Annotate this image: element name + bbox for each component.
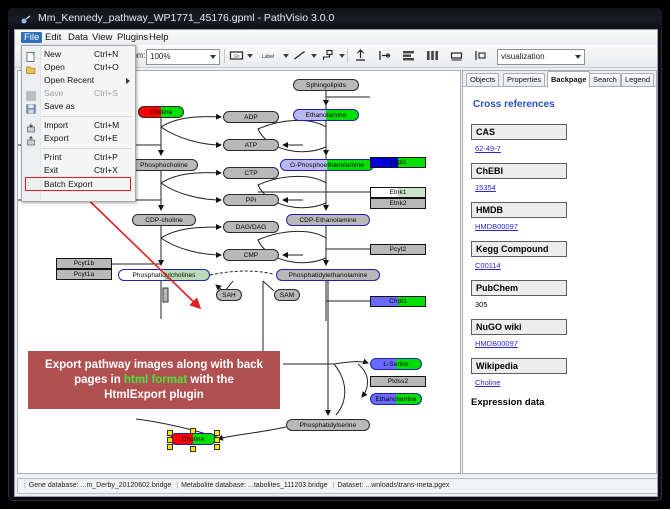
tab-search[interactable]: Search: [589, 73, 621, 87]
tab-objects[interactable]: Objects: [466, 73, 499, 87]
file-menu-item-batch-export[interactable]: Batch Export: [44, 179, 93, 189]
common-width-tool-icon[interactable]: [449, 48, 464, 63]
right-sidebar: Objects Properties Backpage Search Legen…: [462, 70, 657, 474]
xref-value-cas: 62-49-7: [475, 144, 648, 153]
menu-help[interactable]: Help: [146, 32, 172, 43]
selection-handle-e[interactable]: [214, 437, 220, 443]
xref-link-wikipedia[interactable]: Choline: [475, 378, 500, 387]
xref-source-hmdb: HMDB: [471, 202, 567, 218]
node-phosphocholine[interactable]: Phosphocholine: [130, 159, 198, 171]
selection-handle-se[interactable]: [214, 444, 220, 450]
file-menu-item-print[interactable]: Print: [44, 152, 61, 162]
chevron-down-icon: [210, 55, 216, 59]
line-tool-icon[interactable]: [292, 48, 307, 63]
gene-product-tool-icon[interactable]: Gn: [229, 48, 244, 63]
file-menu-shortcut-print: Ctrl+P: [94, 152, 118, 162]
export-icon: [26, 133, 36, 151]
node-ethanolamine[interactable]: Ethanolamine: [293, 109, 359, 121]
label-tool-icon[interactable]: Label: [256, 48, 280, 63]
sidebar-tabstrip: Objects Properties Backpage Search Legen…: [463, 71, 656, 87]
node-ethanolamine-2[interactable]: Ethanolamine: [370, 393, 422, 405]
gene-box-pcyt1b[interactable]: Pcyt1b: [56, 258, 112, 269]
distribute-tool-icon[interactable]: [425, 48, 440, 63]
submenu-chevron-right-icon: [126, 78, 130, 84]
visualization-combobox[interactable]: visualization: [497, 49, 585, 65]
align-top-tool-icon[interactable]: [353, 48, 368, 63]
stack-tool-icon[interactable]: [401, 48, 416, 63]
node-sam[interactable]: SAM: [274, 289, 300, 301]
gene-box-sgpl1[interactable]: Sgpl1: [370, 157, 426, 168]
status-dataset-value: ...wnloads\trans-meta.pgex: [365, 482, 449, 489]
node-cdp-ethanolamine[interactable]: CDP-Ethanolamine: [286, 214, 370, 226]
label-tool-chevron-down-icon[interactable]: [283, 54, 289, 58]
status-gene-db-label: Gene database:: [29, 482, 79, 489]
pathvisio-icon: [20, 13, 32, 25]
node-phosphatidylserine[interactable]: Phosphatidylserine: [286, 419, 370, 431]
node-choline[interactable]: Choline: [138, 106, 184, 118]
menu-file[interactable]: File: [21, 32, 42, 43]
file-menu-item-save-as[interactable]: Save as: [44, 101, 75, 111]
gene-tool-chevron-down-icon[interactable]: [247, 54, 253, 58]
node-phosphatidylethanolamine[interactable]: Phosphatidylethanolamine: [276, 269, 380, 281]
annotation-callout: Export pathway images along with back pa…: [28, 351, 280, 409]
gene-box-chpt1[interactable]: Chpt1: [370, 296, 426, 307]
folder-open-icon: [26, 62, 36, 80]
file-menu-popup[interactable]: New Ctrl+N Open Ctrl+O Open Recent Save …: [21, 45, 136, 202]
node-dag[interactable]: DAG/DAG: [223, 221, 279, 233]
zoom-combobox[interactable]: 100%: [146, 49, 220, 65]
node-choline-selected[interactable]: Choline: [170, 433, 216, 445]
annotation-line-2-a: pages in: [74, 374, 124, 386]
status-sep-1: |: [173, 482, 181, 489]
file-menu-item-new[interactable]: New: [44, 49, 61, 59]
selection-handle-n[interactable]: [190, 428, 196, 434]
gene-box-ptdss2[interactable]: Ptdss2: [370, 376, 426, 387]
xref-value-kegg: C00114: [475, 261, 648, 270]
menu-bar: File Edit Data View Plugins Help: [15, 30, 657, 46]
common-height-tool-icon[interactable]: [473, 48, 488, 63]
file-menu-divider-2: [41, 148, 132, 149]
file-menu-item-open[interactable]: Open: [44, 62, 65, 72]
node-atp[interactable]: ATP: [223, 139, 279, 151]
status-sep-0: |: [21, 482, 29, 489]
cross-references-heading: Cross references: [473, 99, 648, 110]
visualization-value: visualization: [501, 52, 545, 61]
xref-value-chebi: 15354: [475, 183, 648, 192]
tab-legend[interactable]: Legend: [621, 73, 654, 87]
file-menu-item-exit[interactable]: Exit: [44, 165, 58, 175]
xref-value-wikipedia: Choline: [475, 378, 648, 387]
node-sphingolipids[interactable]: Sphingolipids: [293, 79, 359, 91]
annotation-line-3: HtmlExport plugin: [45, 388, 263, 403]
node-adp[interactable]: ADP: [223, 111, 279, 123]
svg-text:Gn: Gn: [233, 54, 240, 59]
xref-source-chebi: ChEBI: [471, 163, 567, 179]
xref-value-hmdb: HMDB00097: [475, 222, 648, 231]
selection-handle-ne[interactable]: [214, 430, 220, 436]
toolbar-separator-2: [347, 49, 348, 63]
node-ppi[interactable]: PPi: [223, 194, 279, 206]
file-menu-shortcut-save: Ctrl+S: [94, 88, 118, 98]
interaction-tool-icon[interactable]: [320, 48, 335, 63]
xref-value-pubchem: 305: [475, 300, 648, 309]
interaction-tool-chevron-down-icon[interactable]: [339, 54, 345, 58]
tab-backpage[interactable]: Backpage: [547, 71, 590, 88]
annotation-line-2-b: with the: [187, 374, 234, 386]
file-menu-shortcut-export: Ctrl+E: [94, 133, 118, 143]
line-tool-chevron-down-icon[interactable]: [311, 54, 317, 58]
node-cdp-choline[interactable]: CDP-choline: [132, 214, 196, 226]
xref-link-nugo[interactable]: HMDB00097: [475, 339, 518, 348]
window-titlebar[interactable]: Mm_Kennedy_pathway_WP1771_45176.gpml - P…: [8, 8, 662, 30]
menu-data[interactable]: Data: [65, 32, 91, 43]
desktop-window-frame: Mm_Kennedy_pathway_WP1771_45176.gpml - P…: [8, 8, 662, 501]
xref-source-cas: CAS: [471, 124, 567, 140]
backpage-content: Cross references CAS 62-49-7 ChEBI 15354…: [463, 87, 656, 473]
file-menu-shortcut-open: Ctrl+O: [94, 62, 119, 72]
node-cmp[interactable]: CMP: [223, 249, 279, 261]
xref-source-kegg: Kegg Compound: [471, 241, 567, 257]
save-as-icon: [26, 101, 36, 119]
xref-source-wikipedia: Wikipedia: [471, 358, 567, 374]
expression-data-heading: Expression data: [471, 397, 648, 408]
selection-handle-nw[interactable]: [167, 430, 173, 436]
node-l-serine[interactable]: L-Serine: [370, 358, 422, 370]
annotation-line-1: Export pathway images along with back: [45, 358, 263, 373]
screenshot-root: Mm_Kennedy_pathway_WP1771_45176.gpml - P…: [0, 0, 670, 509]
file-menu-shortcut-new: Ctrl+N: [94, 49, 118, 59]
tab-properties[interactable]: Properties: [503, 73, 545, 87]
status-gene-db-value: ...m_Derby_20120602.bridge: [81, 482, 172, 489]
file-menu-item-save: Save: [44, 88, 63, 98]
gene-box-pcyt1a[interactable]: Pcyt1a: [56, 269, 112, 280]
zoom-value: 100%: [150, 52, 170, 61]
xref-link-chebi[interactable]: 15354: [475, 183, 496, 192]
gene-box-etnk2[interactable]: Etnk2: [370, 198, 426, 209]
gene-box-pcyt2[interactable]: Pcyt2: [370, 244, 426, 255]
file-menu-item-import[interactable]: Import: [44, 120, 68, 130]
selection-handle-w[interactable]: [167, 437, 173, 443]
chevron-down-icon-2: [575, 55, 581, 59]
file-menu-item-export[interactable]: Export: [44, 133, 69, 143]
status-metab-db-value: ...tabolites_111203.bridge: [248, 482, 328, 489]
status-metab-db-label: Metabolite database:: [181, 482, 246, 489]
xref-link-hmdb[interactable]: HMDB00097: [475, 222, 518, 231]
node-o-phosphoethanolamine[interactable]: O-Phosphoethanolamine: [280, 159, 374, 171]
file-menu-shortcut-exit: Ctrl+X: [94, 165, 118, 175]
annotation-line-2: pages in html format with the: [45, 373, 263, 388]
annotation-highlight: html format: [124, 374, 187, 386]
status-dataset-label: Dataset:: [337, 482, 363, 489]
toolbar-separator: [224, 49, 225, 63]
selection-handle-s[interactable]: [190, 446, 196, 452]
xref-value-nugo: HMDB00097: [475, 339, 648, 348]
svg-text:Label: Label: [262, 54, 274, 60]
file-menu-item-open-recent[interactable]: Open Recent: [44, 75, 94, 85]
window-title: Mm_Kennedy_pathway_WP1771_45176.gpml - P…: [38, 12, 334, 24]
file-menu-divider-1: [41, 116, 132, 117]
xref-link-cas[interactable]: 62-49-7: [475, 144, 501, 153]
menu-view[interactable]: View: [89, 32, 115, 43]
xref-link-kegg[interactable]: C00114: [475, 261, 501, 270]
align-left-tool-icon[interactable]: [377, 48, 392, 63]
node-sah[interactable]: SAH: [216, 289, 242, 301]
node-phosphatidylcholines[interactable]: Phosphatidylcholines: [118, 269, 210, 281]
node-ctp[interactable]: CTP: [223, 167, 279, 179]
menu-edit[interactable]: Edit: [42, 32, 64, 43]
xref-source-nugo: NuGO wiki: [471, 319, 567, 335]
gene-box-etnk1[interactable]: Etnk1: [370, 187, 426, 198]
status-bar: |Gene database: ...m_Derby_20120602.brid…: [17, 478, 658, 494]
pathvisio-app-window: File Edit Data View Plugins Help Zoom: 1…: [14, 29, 658, 497]
selection-handle-sw[interactable]: [167, 444, 173, 450]
file-menu-shortcut-import: Ctrl+M: [94, 120, 119, 130]
xref-source-pubchem: PubChem: [471, 280, 567, 296]
